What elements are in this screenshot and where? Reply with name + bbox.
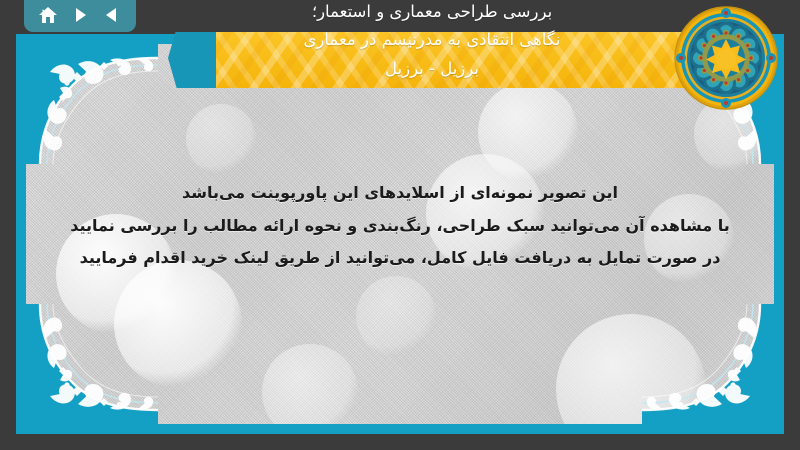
bokeh-circle (478, 82, 578, 182)
next-button[interactable] (67, 3, 93, 27)
home-button[interactable] (35, 3, 61, 27)
prev-button[interactable] (99, 3, 125, 27)
bokeh-circle (186, 104, 256, 174)
bokeh-circle (356, 276, 436, 356)
next-triangle-icon (71, 6, 89, 24)
title-line-1: بررسی طراحی معماری و استعمار؛ (152, 0, 712, 26)
islamic-rosette-medallion-icon (674, 6, 778, 110)
slide-body-text: این تصویر نمونه‌ای از اسلایدهای این پاور… (66, 182, 734, 280)
body-line-1: این تصویر نمونه‌ای از اسلایدهای این پاور… (66, 182, 734, 205)
slide-content-area: این تصویر نمونه‌ای از اسلایدهای این پاور… (26, 44, 774, 424)
bokeh-circle (262, 344, 358, 424)
bokeh-circle (556, 314, 706, 424)
prev-triangle-icon (103, 6, 121, 24)
body-line-2: با مشاهده آن می‌توانید سبک طراحی، رنگ‌بن… (66, 215, 734, 238)
slide-stage: این تصویر نمونه‌ای از اسلایدهای این پاور… (0, 0, 800, 450)
arabesque-corner-top-left-icon (26, 44, 158, 164)
body-line-3: در صورت تمایل به دریافت فایل کامل، می‌تو… (66, 247, 734, 270)
home-house-icon (38, 6, 58, 25)
slide-panel: این تصویر نمونه‌ای از اسلایدهای این پاور… (16, 34, 784, 434)
navigation-bar[interactable] (24, 0, 136, 32)
